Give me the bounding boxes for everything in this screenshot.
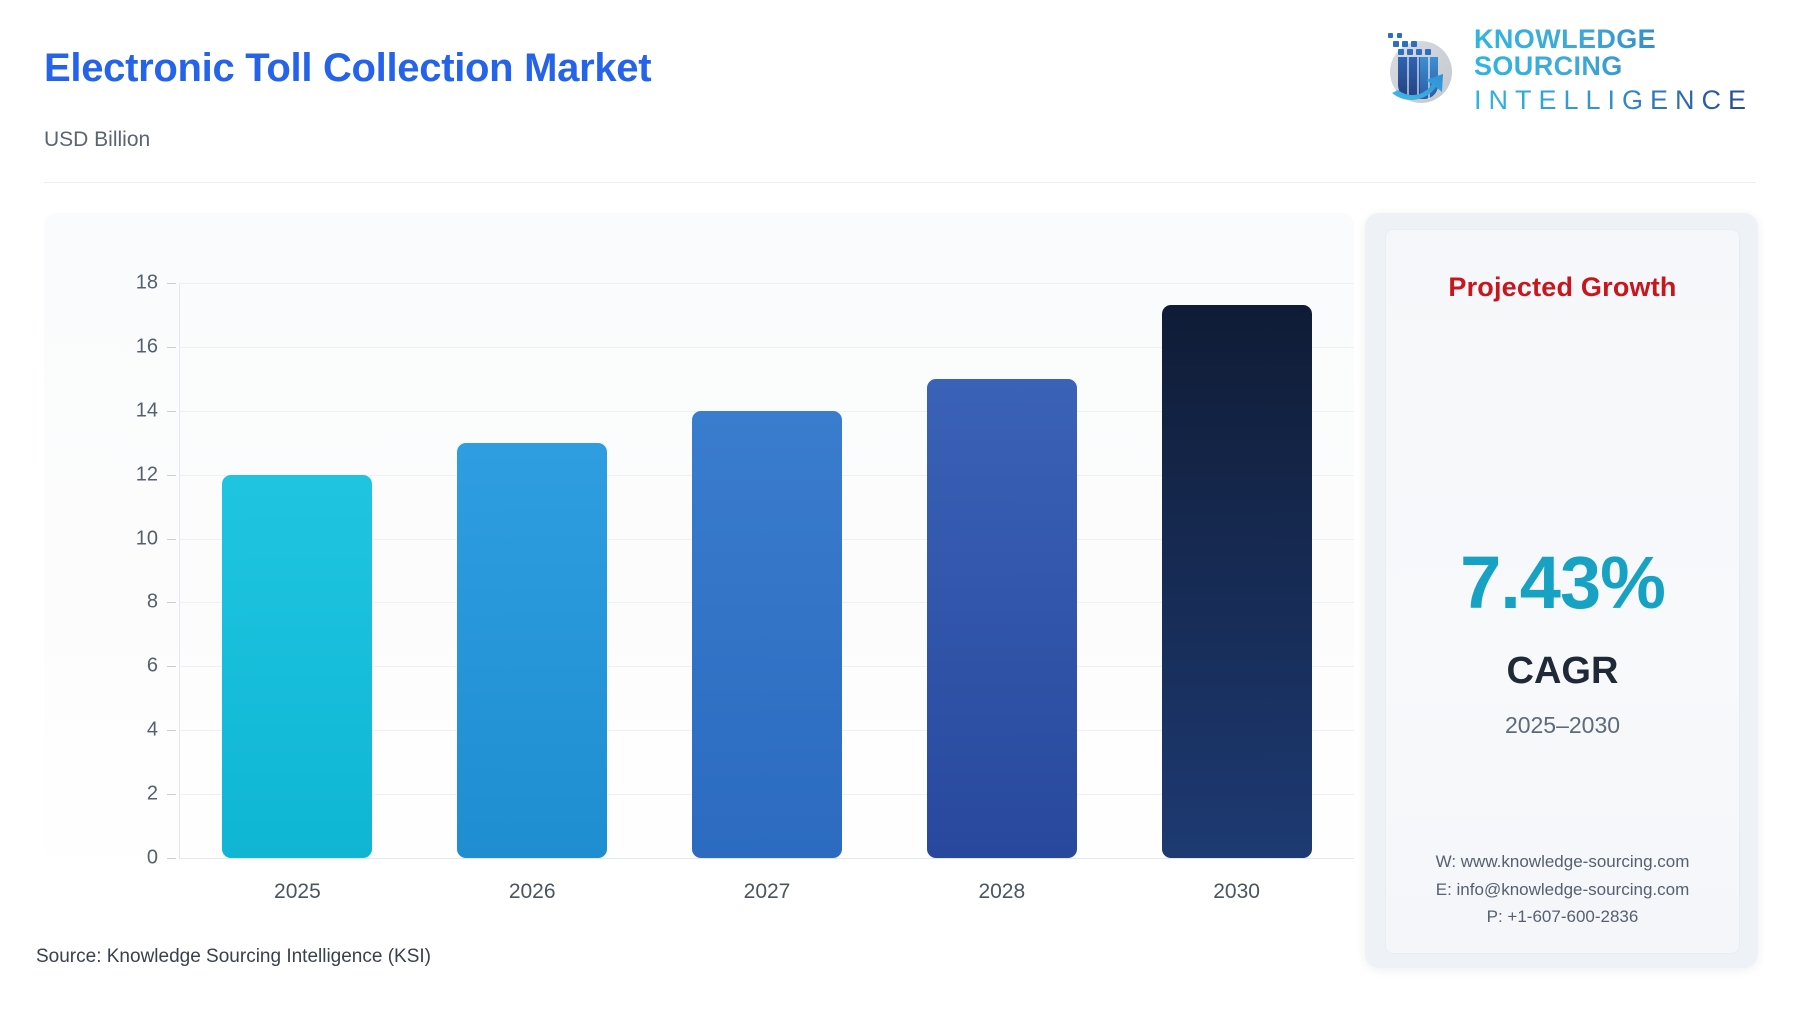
chart-card: 024681012141618 20252026202720282030 [44, 213, 1354, 896]
x-tick-label-2030: 2030 [1213, 880, 1260, 904]
bar-series [180, 283, 1354, 858]
forecast-period: 2025–2030 [1386, 712, 1739, 739]
x-tick-label-2028: 2028 [978, 880, 1025, 904]
gridline [179, 858, 1354, 859]
y-tick-mark [167, 730, 176, 731]
bar-chart-plot-area: 024681012141618 20252026202720282030 [179, 283, 1354, 858]
y-tick-label: 4 [98, 719, 158, 742]
brand-name-line2: INTELLIGENCE [1474, 87, 1766, 114]
y-tick-label: 12 [98, 463, 158, 486]
y-tick-label: 10 [98, 527, 158, 550]
projected-growth-panel-inner: Projected Growth 7.43% CAGR 2025–2030 W:… [1385, 229, 1740, 954]
bar-2026[interactable] [457, 443, 607, 858]
y-tick-label: 18 [98, 272, 158, 295]
y-tick-mark [167, 283, 176, 284]
y-tick-label: 0 [98, 847, 158, 870]
contact-website: W: www.knowledge-sourcing.com [1386, 848, 1739, 876]
contact-email: E: info@knowledge-sourcing.com [1386, 876, 1739, 904]
y-tick-mark [167, 411, 176, 412]
y-tick-mark [167, 475, 176, 476]
y-tick-label: 6 [98, 655, 158, 678]
y-tick-mark [167, 602, 176, 603]
y-tick-label: 16 [98, 335, 158, 358]
brand-logo: KNOWLEDGE SOURCING INTELLIGENCE [1376, 22, 1766, 118]
contact-block: W: www.knowledge-sourcing.com E: info@kn… [1386, 848, 1739, 931]
source-note: Source: Knowledge Sourcing Intelligence … [36, 946, 431, 968]
bar-2027[interactable] [692, 411, 842, 858]
page-title: Electronic Toll Collection Market [44, 46, 651, 91]
panel-heading: Projected Growth [1386, 272, 1739, 303]
bar-2028[interactable] [927, 379, 1077, 858]
contact-phone: P: +1-607-600-2836 [1386, 903, 1739, 931]
y-tick-mark [167, 794, 176, 795]
cagr-label: CAGR [1386, 650, 1739, 693]
brand-logo-text: KNOWLEDGE SOURCING INTELLIGENCE [1474, 26, 1766, 114]
x-tick-label-2026: 2026 [509, 880, 556, 904]
x-tick-label-2027: 2027 [744, 880, 791, 904]
page-header: Electronic Toll Collection Market USD Bi… [0, 0, 1800, 183]
knowledge-sourcing-globe-icon [1376, 27, 1462, 113]
y-tick-label: 14 [98, 399, 158, 422]
cagr-value: 7.43% [1386, 540, 1739, 625]
y-tick-label: 8 [98, 591, 158, 614]
y-tick-mark [167, 539, 176, 540]
brand-name-line1: KNOWLEDGE SOURCING [1474, 26, 1766, 80]
y-tick-mark [167, 666, 176, 667]
x-tick-label-2025: 2025 [274, 880, 321, 904]
header-divider [44, 182, 1756, 183]
y-tick-mark [167, 858, 176, 859]
bar-2030[interactable] [1162, 305, 1312, 858]
projected-growth-panel: Projected Growth 7.43% CAGR 2025–2030 W:… [1365, 213, 1758, 968]
bar-2025[interactable] [222, 475, 372, 858]
page-subtitle-units: USD Billion [44, 128, 150, 152]
y-tick-label: 2 [98, 783, 158, 806]
y-tick-mark [167, 347, 176, 348]
